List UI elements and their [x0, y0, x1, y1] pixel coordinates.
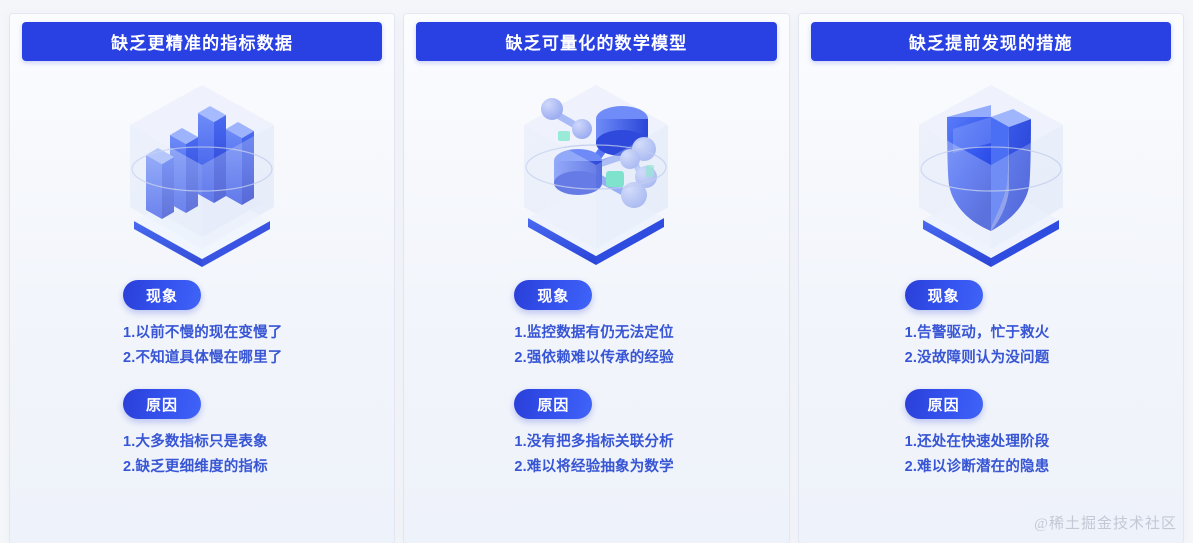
list-item: 1.监控数据有仍无法定位 [514, 321, 674, 346]
card-2-section-2-lines: 1.没有把多指标关联分析 2.难以将经验抽象为数学 [514, 430, 674, 480]
card-1-section-2-lines: 1.大多数指标只是表象 2.缺乏更细维度的指标 [123, 430, 268, 480]
card-1-badge-phenomenon-text: 现象 [146, 285, 178, 306]
card-2-header-title: 缺乏可量化的数学模型 [505, 29, 687, 54]
card-3-illustration-wrap [799, 63, 1183, 278]
card-2-header: 缺乏可量化的数学模型 [416, 22, 776, 61]
watermark: @稀土掘金技术社区 [1034, 512, 1177, 533]
shield-cube-illustration [891, 73, 1091, 268]
comparison-cards-stage: 缺乏更精准的指标数据 [0, 0, 1193, 543]
molecule-network-cube-illustration [496, 73, 696, 268]
list-item: 1.没有把多指标关联分析 [514, 430, 674, 455]
list-item: 1.告警驱动，忙于救火 [905, 321, 1050, 346]
card-1-section-2: 原因 1.大多数指标只是表象 2.缺乏更细维度的指标 [10, 389, 394, 480]
list-item: 2.没故障则认为没问题 [905, 346, 1050, 371]
list-item: 1.大多数指标只是表象 [123, 430, 268, 455]
list-item: 2.缺乏更细维度的指标 [123, 455, 268, 480]
card-1-section-1-lines: 1.以前不慢的现在变慢了 2.不知道具体慢在哪里了 [123, 321, 283, 371]
list-item: 2.难以诊断潜在的隐患 [905, 455, 1050, 480]
card-1-illustration-wrap [10, 63, 394, 278]
card-1-header-title: 缺乏更精准的指标数据 [111, 29, 293, 54]
list-item: 2.强依赖难以传承的经验 [514, 346, 674, 371]
card-2: 缺乏可量化的数学模型 [404, 14, 788, 543]
card-1-badge-phenomenon: 现象 [123, 280, 201, 310]
card-3-section-2-lines: 1.还处在快速处理阶段 2.难以诊断潜在的隐患 [905, 430, 1050, 480]
list-item: 1.还处在快速处理阶段 [905, 430, 1050, 455]
card-3-section-1-lines: 1.告警驱动，忙于救火 2.没故障则认为没问题 [905, 321, 1050, 371]
list-item: 2.难以将经验抽象为数学 [514, 455, 674, 480]
list-item: 1.以前不慢的现在变慢了 [123, 321, 283, 346]
card-2-badge-phenomenon-text: 现象 [537, 285, 569, 306]
card-3-header-title: 缺乏提前发现的措施 [909, 29, 1073, 54]
card-3-section-2: 原因 1.还处在快速处理阶段 2.难以诊断潜在的隐患 [799, 389, 1183, 480]
card-1-badge-cause-text: 原因 [146, 394, 178, 415]
card-3-header: 缺乏提前发现的措施 [811, 22, 1171, 61]
bar-chart-cube-illustration [102, 73, 302, 268]
card-3-badge-cause-text: 原因 [928, 394, 960, 415]
card-1: 缺乏更精准的指标数据 [10, 14, 394, 543]
card-2-section-1-lines: 1.监控数据有仍无法定位 2.强依赖难以传承的经验 [514, 321, 674, 371]
list-item: 2.不知道具体慢在哪里了 [123, 346, 283, 371]
card-3: 缺乏提前发现的措施 [799, 14, 1183, 543]
card-2-badge-cause: 原因 [514, 389, 592, 419]
card-2-section-1: 现象 1.监控数据有仍无法定位 2.强依赖难以传承的经验 [404, 280, 788, 371]
card-1-section-1: 现象 1.以前不慢的现在变慢了 2.不知道具体慢在哪里了 [10, 280, 394, 371]
card-2-section-2: 原因 1.没有把多指标关联分析 2.难以将经验抽象为数学 [404, 389, 788, 480]
card-3-badge-cause: 原因 [905, 389, 983, 419]
card-3-badge-phenomenon-text: 现象 [928, 285, 960, 306]
card-2-badge-cause-text: 原因 [537, 394, 569, 415]
card-2-badge-phenomenon: 现象 [514, 280, 592, 310]
card-1-header: 缺乏更精准的指标数据 [22, 22, 382, 61]
card-2-illustration-wrap [404, 63, 788, 278]
card-3-badge-phenomenon: 现象 [905, 280, 983, 310]
card-3-section-1: 现象 1.告警驱动，忙于救火 2.没故障则认为没问题 [799, 280, 1183, 371]
card-1-badge-cause: 原因 [123, 389, 201, 419]
